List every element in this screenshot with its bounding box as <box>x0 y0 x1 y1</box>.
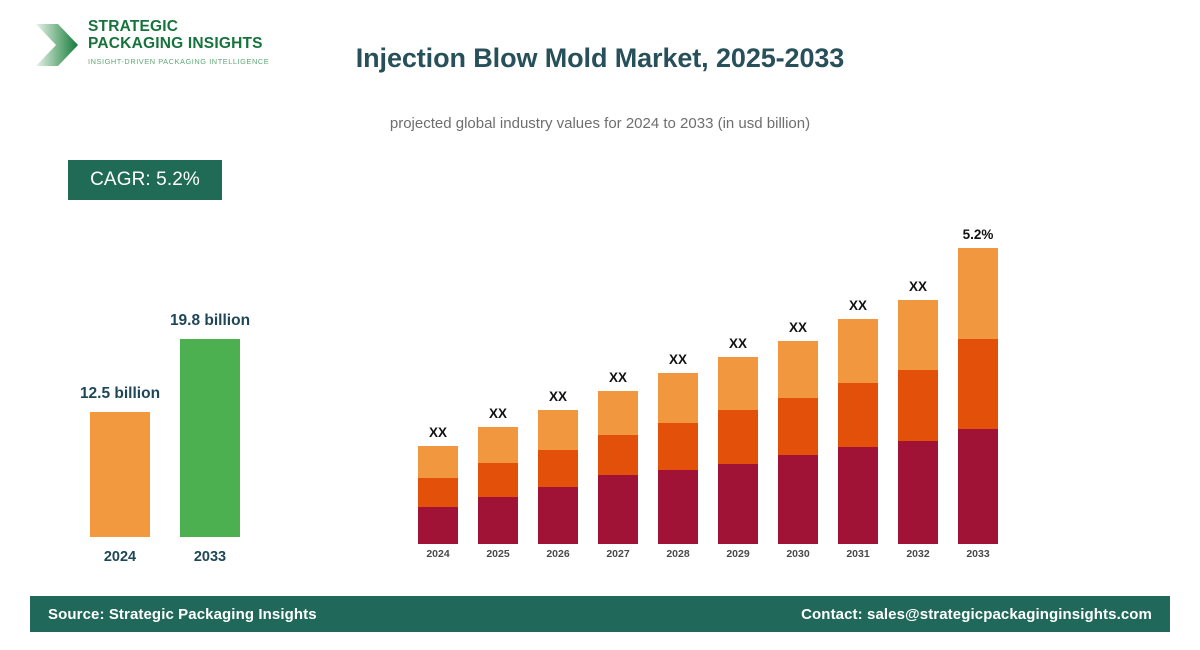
stacked-bar-top-label-2024: XX <box>398 425 478 440</box>
stacked-segment-segment-1-2024 <box>418 507 458 544</box>
stacked-bar-top-label-2030: XX <box>758 320 838 335</box>
stacked-axis-label-2024: 2024 <box>408 548 468 560</box>
stacked-segment-segment-3-2030 <box>778 341 818 398</box>
comparison-axis-label-2024: 2024 <box>80 549 160 565</box>
stacked-bar-group-2024: XX2024 <box>418 200 458 560</box>
stacked-bar-2030 <box>778 341 818 544</box>
stacked-segment-segment-3-2029 <box>718 357 758 410</box>
comparison-bar-2033 <box>180 339 240 537</box>
stacked-bar-group-2027: XX2027 <box>598 200 638 560</box>
stacked-segment-segment-1-2033 <box>958 429 998 544</box>
stacked-axis-label-2029: 2029 <box>708 548 768 560</box>
cagr-badge-label: CAGR: 5.2% <box>90 169 200 191</box>
stacked-segment-segment-1-2029 <box>718 464 758 544</box>
stacked-segment-segment-2-2024 <box>418 478 458 507</box>
comparison-value-label-2024: 12.5 billion <box>60 385 180 403</box>
brand-name-line1: STRATEGIC <box>88 19 269 36</box>
footer-bar: Source: Strategic Packaging Insights Con… <box>30 596 1170 632</box>
stacked-axis-label-2028: 2028 <box>648 548 708 560</box>
stacked-axis-label-2031: 2031 <box>828 548 888 560</box>
stacked-segment-segment-1-2032 <box>898 441 938 544</box>
page-subtitle: projected global industry values for 202… <box>0 115 1200 132</box>
stacked-bar-group-2028: XX2028 <box>658 200 698 560</box>
stacked-segment-segment-2-2026 <box>538 450 578 487</box>
stacked-segment-segment-2-2030 <box>778 398 818 455</box>
stacked-segment-segment-3-2032 <box>898 300 938 370</box>
stacked-segment-segment-3-2031 <box>838 319 878 383</box>
stacked-segment-segment-3-2024 <box>418 446 458 478</box>
stacked-bar-2025 <box>478 427 518 544</box>
stacked-segment-segment-1-2031 <box>838 447 878 544</box>
stacked-bar-top-label-2033: 5.2% <box>938 227 1018 242</box>
stacked-bar-2024 <box>418 446 458 544</box>
page-title: Injection Blow Mold Market, 2025-2033 <box>0 43 1200 74</box>
stacked-segment-segment-3-2026 <box>538 410 578 450</box>
stacked-bar-2032 <box>898 300 938 544</box>
comparison-axis-label-2033: 2033 <box>170 549 250 565</box>
stacked-bar-top-label-2031: XX <box>818 298 898 313</box>
stacked-segment-segment-3-2027 <box>598 391 638 435</box>
stacked-bar-group-2029: XX2029 <box>718 200 758 560</box>
stacked-bar-group-2033: 5.2%2033 <box>958 200 998 560</box>
stacked-segment-segment-2-2028 <box>658 423 698 470</box>
stacked-segment-segment-1-2028 <box>658 470 698 544</box>
stacked-bar-2031 <box>838 319 878 544</box>
stacked-bar-top-label-2032: XX <box>878 279 958 294</box>
stacked-axis-label-2033: 2033 <box>948 548 1008 560</box>
stacked-bar-2028 <box>658 373 698 544</box>
stacked-bar-2033 <box>958 248 998 544</box>
footer-source: Source: Strategic Packaging Insights <box>48 606 317 623</box>
stacked-segment-segment-2-2027 <box>598 435 638 475</box>
stacked-bar-top-label-2026: XX <box>518 389 598 404</box>
stacked-axis-label-2026: 2026 <box>528 548 588 560</box>
stacked-segment-segment-1-2025 <box>478 497 518 544</box>
stacked-segment-segment-2-2033 <box>958 339 998 429</box>
stacked-bar-2026 <box>538 410 578 544</box>
footer-contact[interactable]: Contact: sales@strategicpackaginginsight… <box>801 606 1152 623</box>
stacked-bar-group-2031: XX2031 <box>838 200 878 560</box>
stacked-segment-segment-2-2029 <box>718 410 758 464</box>
stacked-bar-top-label-2028: XX <box>638 352 718 367</box>
comparison-bar-2024 <box>90 412 150 537</box>
stacked-bar-chart: XX2024XX2025XX2026XX2027XX2028XX2029XX20… <box>400 200 1020 560</box>
stacked-bar-top-label-2029: XX <box>698 336 778 351</box>
stacked-segment-segment-1-2030 <box>778 455 818 544</box>
stacked-segment-segment-1-2027 <box>598 475 638 544</box>
comparison-bar-chart: 12.5 billion202419.8 billion2033 <box>40 300 280 575</box>
stacked-bar-top-label-2025: XX <box>458 406 538 421</box>
stacked-segment-segment-2-2031 <box>838 383 878 447</box>
stacked-segment-segment-2-2025 <box>478 463 518 497</box>
cagr-badge: CAGR: 5.2% <box>68 160 222 200</box>
stacked-segment-segment-1-2026 <box>538 487 578 544</box>
stacked-bar-2027 <box>598 391 638 544</box>
stacked-segment-segment-3-2028 <box>658 373 698 423</box>
stacked-axis-label-2027: 2027 <box>588 548 648 560</box>
stacked-segment-segment-3-2033 <box>958 248 998 339</box>
stacked-axis-label-2030: 2030 <box>768 548 828 560</box>
stacked-bar-top-label-2027: XX <box>578 370 658 385</box>
stacked-axis-label-2032: 2032 <box>888 548 948 560</box>
stacked-bar-group-2030: XX2030 <box>778 200 818 560</box>
stacked-bar-group-2026: XX2026 <box>538 200 578 560</box>
comparison-value-label-2033: 19.8 billion <box>150 312 270 330</box>
stacked-axis-label-2025: 2025 <box>468 548 528 560</box>
stacked-segment-segment-3-2025 <box>478 427 518 463</box>
stacked-segment-segment-2-2032 <box>898 370 938 441</box>
stacked-bar-2029 <box>718 357 758 544</box>
stacked-bar-group-2025: XX2025 <box>478 200 518 560</box>
stacked-bar-group-2032: XX2032 <box>898 200 938 560</box>
